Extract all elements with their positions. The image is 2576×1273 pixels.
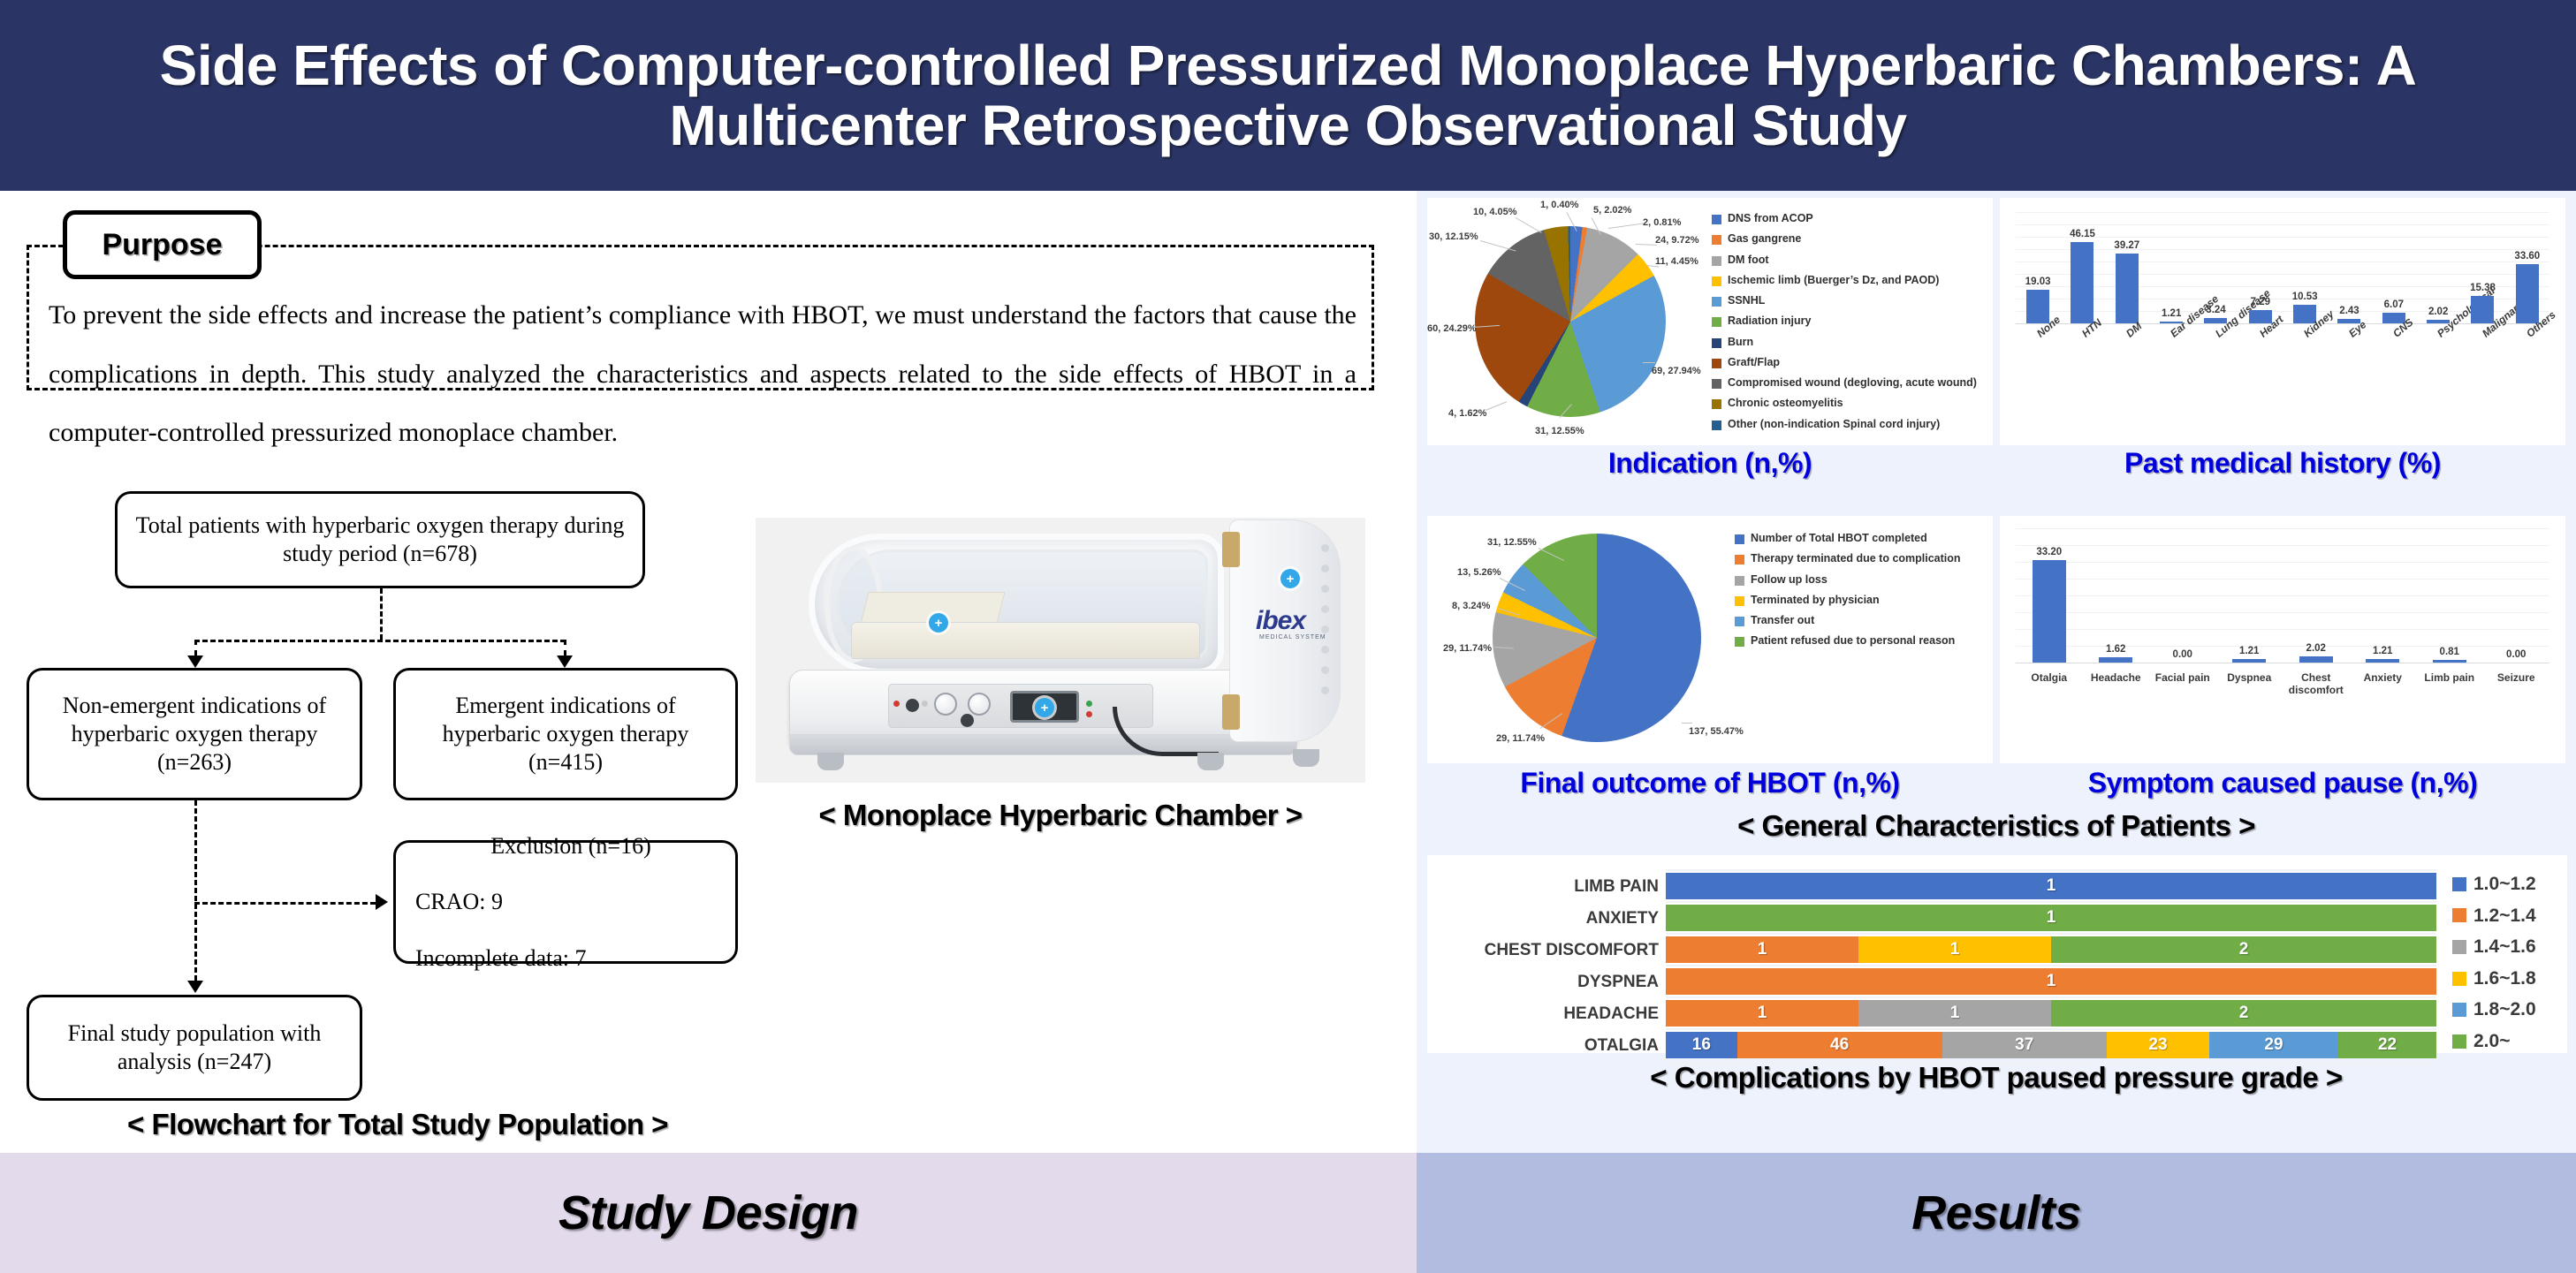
- poster-header-band: Side Effects of Computer-controlled Pres…: [0, 0, 2576, 191]
- legend-item: Number of Total HBOT completed: [1735, 532, 1991, 545]
- legend-item: Compromised wound (degloving, acute woun…: [1712, 376, 1987, 390]
- bar-column: 33.20: [2016, 528, 2083, 663]
- chamber-indicator-gray: [922, 701, 928, 707]
- stacked-bar-row: 164637232922: [1666, 1032, 2436, 1058]
- bar-category-label: Anxiety: [2350, 671, 2417, 684]
- legend-label: 1.6~1.8: [2473, 967, 2536, 990]
- legend-swatch-icon: [2452, 940, 2466, 954]
- stacked-bar-row: 1: [1666, 873, 2436, 899]
- flow-connector-left-down: [194, 640, 197, 655]
- gridline: [1666, 1028, 2436, 1030]
- complications-caption: < Complications by HBOT paused pressure …: [1417, 1061, 2576, 1095]
- bar-category-label: Otalgia: [2016, 671, 2083, 684]
- footer-study-design-label: Study Design: [559, 1186, 858, 1240]
- footer-results-label: Results: [1911, 1186, 2081, 1240]
- legend-item: Chronic osteomyelitis: [1712, 397, 1987, 410]
- stacked-row-label: DYSPNEA: [1427, 973, 1659, 992]
- bar-category-label: Dyspnea: [2216, 671, 2283, 684]
- legend-item: Transfer out: [1735, 614, 1991, 627]
- bar-value-label: 2.02: [2428, 307, 2448, 317]
- flowchart-caption: < Flowchart for Total Study Population >: [27, 1108, 769, 1141]
- pie-data-label: 24, 9.72%: [1655, 235, 1699, 246]
- chamber-indicator-red: [893, 701, 900, 707]
- legend-item: Radiation injury: [1712, 314, 1987, 328]
- bar-value-label: 39.27: [2114, 240, 2139, 251]
- legend-label: Graft/Flap: [1728, 356, 1780, 369]
- bar-value-label: 0.00: [2506, 649, 2526, 660]
- legend-item: Patient refused due to personal reason: [1735, 634, 1991, 648]
- chamber-knob-2[interactable]: [961, 714, 974, 727]
- chamber-brand-logo: ibex: [1256, 606, 1305, 636]
- bar-value-label: 2.43: [2339, 306, 2359, 316]
- legend-swatch-icon: [2452, 972, 2466, 986]
- study-design-panel: Purpose To prevent the side effects and …: [0, 191, 1417, 1153]
- photo-hotspot-icon-2: +: [1035, 698, 1054, 717]
- flow-connector-nonemergent-down: [194, 800, 197, 981]
- legend-swatch-icon: [1712, 317, 1721, 327]
- chamber-caption: < Monoplace Hyperbaric Chamber >: [756, 799, 1365, 832]
- legend-label: Follow up loss: [1751, 573, 1828, 587]
- bar-column: 0.81: [2416, 528, 2483, 663]
- bar-rect: [2299, 656, 2333, 663]
- stacked-bar-row: 112: [1666, 936, 2436, 963]
- bar-value-label: 3.24: [2206, 305, 2225, 315]
- bar-value-label: 1.21: [2373, 646, 2392, 656]
- bar-column: 1.62: [2083, 528, 2150, 663]
- flow-connector-split: [194, 640, 566, 642]
- legend-item: Terminated by physician: [1735, 594, 1991, 607]
- legend-item: Graft/Flap: [1712, 356, 1987, 369]
- flow-box-total-patients: Total patients with hyperbaric oxygen th…: [115, 491, 645, 588]
- chamber-foot-3: [1293, 749, 1319, 767]
- stacked-bar-segment: 1: [1666, 968, 2436, 995]
- legend-label: DNS from ACOP: [1728, 212, 1813, 225]
- flow-box-final-population: Final study population with analysis (n=…: [27, 995, 362, 1101]
- pie-data-label: 1, 0.40%: [1540, 200, 1578, 210]
- symptom-pause-chart-title: Symptom caused pause (n,%): [2000, 767, 2565, 799]
- legend-label: Ischemic limb (Buerger’s Dz, and PAOD): [1728, 274, 1939, 287]
- stacked-bar-segment: 1: [1666, 1000, 1858, 1027]
- bar-column: 1.21: [2149, 212, 2193, 323]
- indication-chart-title: Indication (n,%): [1427, 447, 1993, 480]
- flow-arrow-to-non-emergent: [187, 655, 203, 668]
- past-medical-history-chart-card: 19.03None46.15HTN39.27DM1.21Ear disease3…: [2000, 198, 2565, 445]
- study-population-flowchart: Total patients with hyperbaric oxygen th…: [27, 491, 733, 1101]
- legend-item: Ischemic limb (Buerger’s Dz, and PAOD): [1712, 274, 1987, 287]
- legend-item: Follow up loss: [1735, 573, 1991, 587]
- legend-label: Terminated by physician: [1751, 594, 1880, 607]
- final-outcome-chart-title: Final outcome of HBOT (n,%): [1427, 767, 1993, 799]
- chamber-vent-holes: [1321, 544, 1329, 707]
- bar-value-label: 7.29: [2251, 297, 2270, 307]
- pie-data-label: 13, 5.26%: [1457, 567, 1501, 578]
- stacked-bar-row: 1: [1666, 905, 2436, 931]
- legend-label: 1.4~1.6: [2473, 936, 2536, 959]
- results-panel: 5, 2.02%2, 0.81%24, 9.72%11, 4.45%69, 27…: [1417, 191, 2576, 1153]
- flow-connector-to-exclusion: [194, 902, 376, 905]
- past-medical-history-bar-chart: 19.03None46.15HTN39.27DM1.21Ear disease3…: [2016, 212, 2549, 387]
- legend-label: Burn: [1728, 336, 1753, 349]
- pie-data-label: 31, 12.55%: [1487, 537, 1537, 548]
- bar-column: 2.02: [2283, 528, 2350, 663]
- pie-leader-line: [1608, 223, 1644, 229]
- flow-arrow-to-exclusion: [376, 894, 388, 910]
- chamber-indicator-red-2: [1086, 711, 1092, 717]
- bar-column: 15.38: [2460, 212, 2504, 323]
- legend-item: 1.6~1.8: [2452, 967, 2567, 990]
- flow-connector-total-down: [380, 588, 383, 640]
- bar-rect: [2026, 290, 2049, 323]
- gridline: [1666, 965, 2436, 966]
- bar-column: 2.43: [2327, 212, 2371, 323]
- legend-swatch-icon: [1712, 399, 1721, 409]
- stacked-bar-segment: 1: [1858, 1000, 2051, 1027]
- legend-swatch-icon: [1735, 617, 1744, 626]
- general-characteristics-caption: < General Characteristics of Patients >: [1417, 809, 2576, 843]
- purpose-label: Purpose: [63, 210, 262, 279]
- bar-column: 2.02: [2416, 212, 2460, 323]
- legend-item: DM foot: [1712, 254, 1987, 267]
- bar-value-label: 1.62: [2106, 644, 2125, 655]
- chamber-pressure-gauge-2: [968, 693, 991, 716]
- legend-item: Gas gangrene: [1712, 232, 1987, 246]
- legend-item: SSNHL: [1712, 294, 1987, 307]
- bar-rect: [2099, 657, 2132, 663]
- legend-swatch-icon: [2452, 1034, 2466, 1049]
- pie-leader-line: [1516, 217, 1542, 233]
- pie-leader-line: [1643, 362, 1655, 363]
- pie-data-label: 31, 12.55%: [1535, 426, 1584, 436]
- legend-swatch-icon: [1735, 596, 1744, 606]
- symptom-pause-chart-card: 33.20Otalgia1.62Headache0.00Facial pain1…: [2000, 516, 2565, 763]
- flow-connector-right-down: [564, 640, 566, 655]
- bar-value-label: 46.15: [2070, 229, 2095, 239]
- stacked-row-label: LIMB PAIN: [1427, 877, 1659, 897]
- legend-label: Chronic osteomyelitis: [1728, 397, 1843, 410]
- legend-item: 1.2~1.4: [2452, 905, 2567, 928]
- pie-data-label: 137, 55.47%: [1689, 726, 1744, 737]
- bar-column: 33.60: [2505, 212, 2549, 323]
- legend-swatch-icon: [1712, 379, 1721, 389]
- legend-label: 2.0~: [2473, 1030, 2510, 1053]
- pie-data-label: 29, 11.74%: [1443, 643, 1492, 654]
- stacked-bar-segment: 46: [1737, 1032, 1942, 1058]
- gridline: [1666, 933, 2436, 935]
- bar-column: 39.27: [2105, 212, 2149, 323]
- stacked-bar-segment: 2: [2051, 1000, 2436, 1027]
- outcome-pie-slices: [1493, 534, 1701, 742]
- legend-swatch-icon: [2452, 908, 2466, 922]
- chamber-pressure-gauge-1: [934, 693, 957, 716]
- indication-legend: DNS from ACOPGas gangreneDM footIschemic…: [1712, 212, 1987, 438]
- footer-study-design: Study Design: [0, 1153, 1417, 1273]
- bar-rect: [2033, 560, 2066, 663]
- pie-data-label: 60, 24.29%: [1427, 323, 1477, 334]
- photo-hotspot-icon-1: +: [929, 613, 948, 633]
- bar-value-label: 33.20: [2036, 547, 2062, 557]
- legend-item: 1.8~2.0: [2452, 998, 2567, 1021]
- pie-data-label: 4, 1.62%: [1448, 408, 1486, 419]
- stacked-row-label: HEADACHE: [1427, 1004, 1659, 1024]
- stacked-bar-row: 1: [1666, 968, 2436, 995]
- stacked-bar-segment: 22: [2338, 1032, 2436, 1058]
- pie-leader-line: [1486, 401, 1507, 411]
- legend-label: Patient refused due to personal reason: [1751, 634, 1955, 648]
- legend-label: Other (non-indication Spinal cord injury…: [1728, 418, 1940, 431]
- legend-swatch-icon: [1712, 235, 1721, 245]
- bar-column: 0.00: [2149, 528, 2216, 663]
- legend-swatch-icon: [1735, 637, 1744, 647]
- stacked-bar-row: 112: [1666, 1000, 2436, 1027]
- legend-item: Other (non-indication Spinal cord injury…: [1712, 418, 1987, 431]
- x-axis: [2016, 663, 2549, 663]
- bar-rect: [2366, 659, 2399, 663]
- legend-item: Therapy terminated due to complication: [1735, 552, 1991, 565]
- chamber-brand-sublabel: MEDICAL SYSTEM: [1259, 634, 1326, 640]
- legend-label: Therapy terminated due to complication: [1751, 552, 1961, 565]
- flow-box-non-emergent: Non-emergent indications of hyperbaric o…: [27, 668, 362, 800]
- flow-arrow-to-final: [187, 981, 203, 993]
- bar-value-label: 33.60: [2514, 251, 2540, 261]
- bar-category-label: Headache: [2083, 671, 2150, 684]
- stacked-bar-segment: 1: [1666, 873, 2436, 899]
- page-title: Side Effects of Computer-controlled Pres…: [95, 35, 2481, 156]
- flow-box-exclusion: Exclusion (n=16) CRAO: 9 Incomplete data…: [393, 840, 738, 964]
- legend-swatch-icon: [1712, 215, 1721, 224]
- bar-rect: [2116, 254, 2139, 323]
- legend-swatch-icon: [2452, 877, 2466, 891]
- legend-item: Burn: [1712, 336, 1987, 349]
- final-outcome-legend: Number of Total HBOT completedTherapy te…: [1735, 532, 1991, 655]
- legend-item: 1.0~1.2: [2452, 873, 2567, 896]
- flow-arrow-to-emergent: [557, 655, 573, 668]
- bar-rect: [2433, 660, 2466, 663]
- legend-label: Radiation injury: [1728, 314, 1811, 328]
- photo-hotspot-icon-3: +: [1280, 569, 1300, 588]
- complications-by-grade-chart-card: LIMB PAIN1ANXIETY1CHEST DISCOMFORT112DYS…: [1427, 855, 2567, 1053]
- stacked-bar-segment: 37: [1942, 1032, 2107, 1058]
- chamber-mattress: [851, 622, 1200, 659]
- bar-column: 0.00: [2483, 528, 2550, 663]
- bar-column: 19.03: [2016, 212, 2060, 323]
- purpose-box: Purpose To prevent the side effects and …: [27, 245, 1374, 390]
- chamber-knob-1[interactable]: [906, 699, 919, 712]
- bar-value-label: 1.21: [2162, 308, 2181, 319]
- stacked-bar-segment: 1: [1858, 936, 2051, 963]
- gridline: [1666, 901, 2436, 903]
- bar-category-label: Seizure: [2483, 671, 2550, 684]
- legend-swatch-icon: [1712, 256, 1721, 266]
- bar-rect: [2232, 659, 2266, 663]
- bar-value-label: 0.00: [2173, 649, 2192, 660]
- bar-column: 1.21: [2350, 528, 2417, 663]
- chamber-figure: ibex MEDICAL SYSTEM + + + <: [756, 518, 1365, 832]
- legend-swatch-icon: [1712, 421, 1721, 430]
- pie-data-label: 5, 2.02%: [1593, 205, 1631, 216]
- indication-pie-slices: [1475, 226, 1666, 417]
- flow-box-emergent: Emergent indications of hyperbaric oxyge…: [393, 668, 738, 800]
- bar-column: 10.53: [2283, 212, 2327, 323]
- chamber-hinge-bottom: [1222, 694, 1240, 730]
- chamber-hinge-top: [1222, 532, 1240, 567]
- bar-value-label: 15.38: [2470, 283, 2496, 293]
- legend-swatch-icon: [2452, 1003, 2466, 1017]
- legend-label: 1.8~2.0: [2473, 998, 2536, 1021]
- pie-leader-line: [1682, 723, 1692, 724]
- pie-data-label: 10, 4.05%: [1473, 207, 1517, 217]
- pie-data-label: 11, 4.45%: [1655, 256, 1698, 267]
- legend-swatch-icon: [1712, 297, 1721, 307]
- monoplace-chamber-photo: ibex MEDICAL SYSTEM + + +: [756, 518, 1365, 783]
- bar-rect: [2471, 296, 2494, 323]
- chamber-foot-2: [1197, 753, 1224, 770]
- complications-legend: 1.0~1.21.2~1.41.4~1.61.6~1.81.8~2.02.0~: [2452, 873, 2567, 1062]
- stacked-bar-segment: 1: [1666, 905, 2436, 931]
- stacked-row-label: ANXIETY: [1427, 909, 1659, 928]
- bar-category-label: Chest discomfort: [2283, 671, 2350, 696]
- legend-swatch-icon: [1735, 534, 1744, 544]
- footer-results: Results: [1417, 1153, 2576, 1273]
- bar-rect: [2071, 242, 2093, 323]
- stacked-bar-segment: 29: [2209, 1032, 2338, 1058]
- legend-label: Transfer out: [1751, 614, 1814, 627]
- bar-value-label: 10.53: [2292, 292, 2318, 302]
- stacked-row-label: CHEST DISCOMFORT: [1427, 941, 1659, 960]
- legend-label: Gas gangrene: [1728, 232, 1801, 246]
- stacked-bar-segment: 1: [1666, 936, 1858, 963]
- bar-value-label: 0.81: [2440, 647, 2459, 657]
- legend-item: DNS from ACOP: [1712, 212, 1987, 225]
- purpose-body-text: To prevent the side effects and increase…: [49, 286, 1356, 463]
- legend-label: SSNHL: [1728, 294, 1765, 307]
- bar-value-label: 2.02: [2306, 643, 2326, 654]
- gridline: [1666, 869, 2436, 871]
- pie-data-label: 29, 11.74%: [1496, 733, 1545, 744]
- gridline: [1666, 996, 2436, 998]
- legend-swatch-icon: [1735, 555, 1744, 565]
- bar-column: 7.29: [2238, 212, 2283, 323]
- legend-label: 1.0~1.2: [2473, 873, 2536, 896]
- chamber-indicator-green: [1086, 701, 1092, 707]
- bar-column: 6.07: [2372, 212, 2416, 323]
- stacked-bar-segment: 16: [1666, 1032, 1737, 1058]
- legend-label: Number of Total HBOT completed: [1751, 532, 1927, 545]
- pie-data-label: 69, 27.94%: [1652, 366, 1701, 376]
- legend-item: 2.0~: [2452, 1030, 2567, 1053]
- chamber-foot-1: [817, 753, 844, 770]
- bar-value-label: 1.21: [2239, 646, 2259, 656]
- bar-category-label: Limb pain: [2416, 671, 2483, 684]
- legend-item: 1.4~1.6: [2452, 936, 2567, 959]
- legend-swatch-icon: [1735, 576, 1744, 586]
- bar-column: 3.24: [2193, 212, 2238, 323]
- legend-label: 1.2~1.4: [2473, 905, 2536, 928]
- complications-stacked-bar-chart: LIMB PAIN1ANXIETY1CHEST DISCOMFORT112DYS…: [1427, 855, 2443, 1053]
- pie-data-label: 30, 12.15%: [1429, 231, 1478, 242]
- legend-label: Compromised wound (degloving, acute woun…: [1728, 376, 1977, 390]
- final-outcome-chart-card: 137, 55.47%29, 11.74%29, 11.74%8, 3.24%1…: [1427, 516, 1993, 763]
- legend-swatch-icon: [1712, 338, 1721, 348]
- legend-label: DM foot: [1728, 254, 1769, 267]
- legend-swatch-icon: [1712, 359, 1721, 368]
- bar-rect: [2516, 264, 2539, 323]
- pie-leader-line: [1636, 244, 1657, 246]
- bar-value-label: 19.03: [2025, 277, 2051, 287]
- indication-chart-card: 5, 2.02%2, 0.81%24, 9.72%11, 4.45%69, 27…: [1427, 198, 1993, 445]
- symptom-pause-bar-chart: 33.20Otalgia1.62Headache0.00Facial pain1…: [2016, 528, 2549, 714]
- stacked-bar-segment: 23: [2107, 1032, 2209, 1058]
- bar-category-label: Facial pain: [2149, 671, 2216, 684]
- legend-swatch-icon: [1712, 277, 1721, 286]
- stacked-row-label: OTALGIA: [1427, 1036, 1659, 1056]
- past-medical-history-chart-title: Past medical history (%): [2000, 447, 2565, 480]
- bar-value-label: 6.07: [2384, 299, 2404, 310]
- stacked-bar-segment: 2: [2051, 936, 2436, 963]
- pie-data-label: 2, 0.81%: [1643, 217, 1681, 228]
- bar-column: 46.15: [2060, 212, 2104, 323]
- bar-column: 1.21: [2216, 528, 2283, 663]
- pie-data-label: 8, 3.24%: [1452, 601, 1490, 611]
